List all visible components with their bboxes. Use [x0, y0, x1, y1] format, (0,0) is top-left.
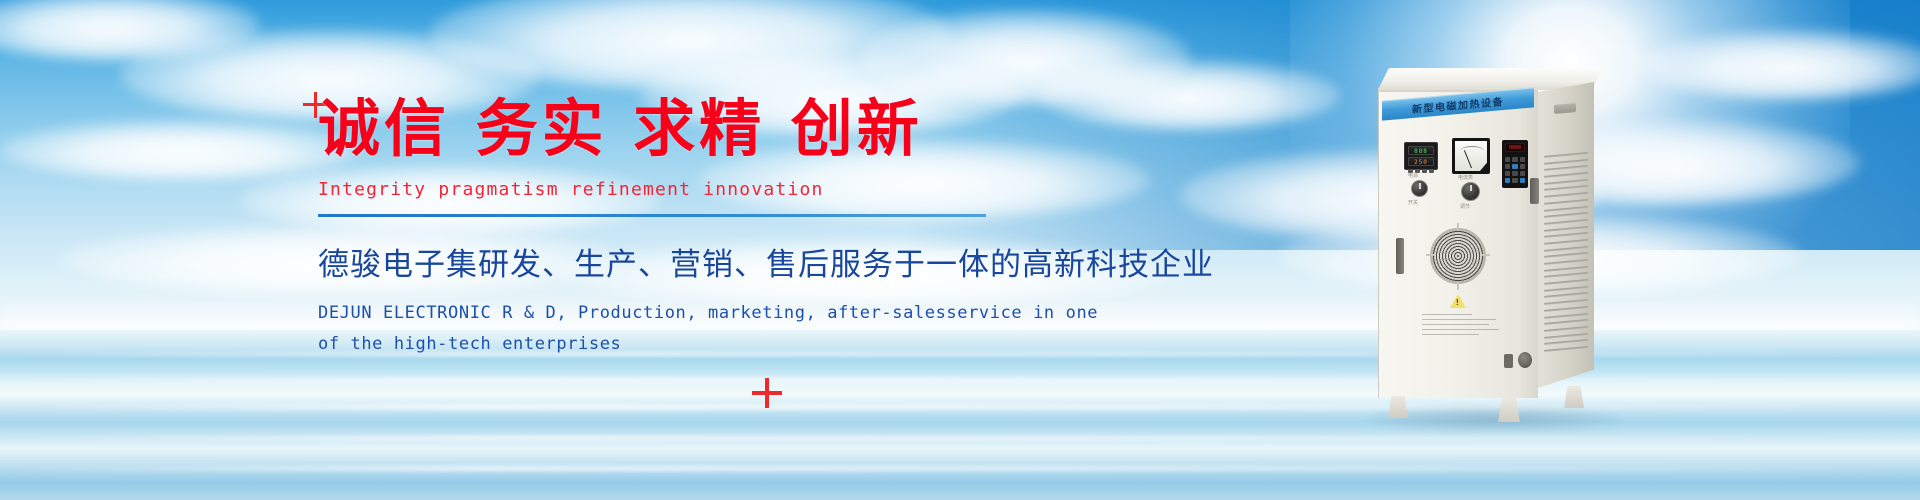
sea-streak [0, 378, 1920, 382]
side-handle [1530, 178, 1539, 204]
cloud [1640, 30, 1920, 100]
fan-mount [1482, 254, 1490, 256]
temp-display-top: 888 [1408, 146, 1434, 155]
sea-streak [0, 436, 1920, 440]
keypad-keys [1505, 157, 1525, 183]
plus-decoration-icon [752, 378, 782, 408]
connector-port [1518, 352, 1532, 368]
control-keypad: 0000 [1502, 140, 1528, 188]
divider-rule [318, 214, 986, 217]
warning-triangle-icon [1450, 294, 1466, 308]
tagline-english: DEJUN ELECTRONIC R & D, Production, mark… [318, 298, 1038, 361]
product-shadow [1370, 406, 1620, 432]
product-image-heating-equipment: 新型电磁加热设备 888 250 0000 [1378, 68, 1608, 420]
fan-mount [1426, 254, 1434, 256]
analog-gauge [1452, 138, 1490, 174]
tagline-english-line-2: of the high-tech enterprises [318, 329, 1038, 360]
machine-foot [1564, 386, 1584, 408]
caption-power: 电源 [1408, 172, 1418, 179]
banner-copy: 诚信 务实 求精 创新 Integrity pragmatism refinem… [318, 96, 1038, 361]
temp-display-bottom: 250 [1408, 157, 1434, 166]
door-handle [1396, 238, 1404, 274]
gauge-face [1455, 141, 1487, 171]
specification-plate [1422, 314, 1508, 348]
temperature-controller: 888 250 [1404, 142, 1438, 170]
keypad-led-display: 0000 [1505, 143, 1525, 152]
power-knob [1411, 180, 1428, 197]
machine-vent-louvers [1544, 152, 1588, 352]
caption-switch: 开关 [1408, 199, 1418, 206]
headline-chinese: 诚信 务实 求精 创新 [318, 96, 1038, 163]
adjust-knob [1461, 182, 1480, 201]
caption-adjust: 调节 [1460, 203, 1470, 210]
caption-gauge: 电流表 [1458, 174, 1473, 181]
fan-mount [1457, 282, 1459, 290]
headline-english: Integrity pragmatism refinement innovati… [318, 179, 1038, 200]
tagline-chinese: 德骏电子集研发、生产、营销、售后服务于一体的高新科技企业 [318, 239, 1038, 284]
cable-port [1504, 354, 1513, 368]
sea-streak [0, 404, 1920, 410]
machine-foot [1388, 396, 1408, 418]
cooling-fan-grille [1430, 228, 1486, 284]
machine-top-vent [1554, 103, 1576, 114]
cloud [0, 120, 360, 180]
tagline-english-line-1: DEJUN ELECTRONIC R & D, Production, mark… [318, 298, 1038, 329]
cloud [1040, 60, 1340, 130]
sea-streak [0, 466, 1920, 471]
fan-mount [1457, 223, 1459, 231]
promo-banner: 诚信 务实 求精 创新 Integrity pragmatism refinem… [0, 0, 1920, 500]
machine-foot [1498, 398, 1520, 422]
